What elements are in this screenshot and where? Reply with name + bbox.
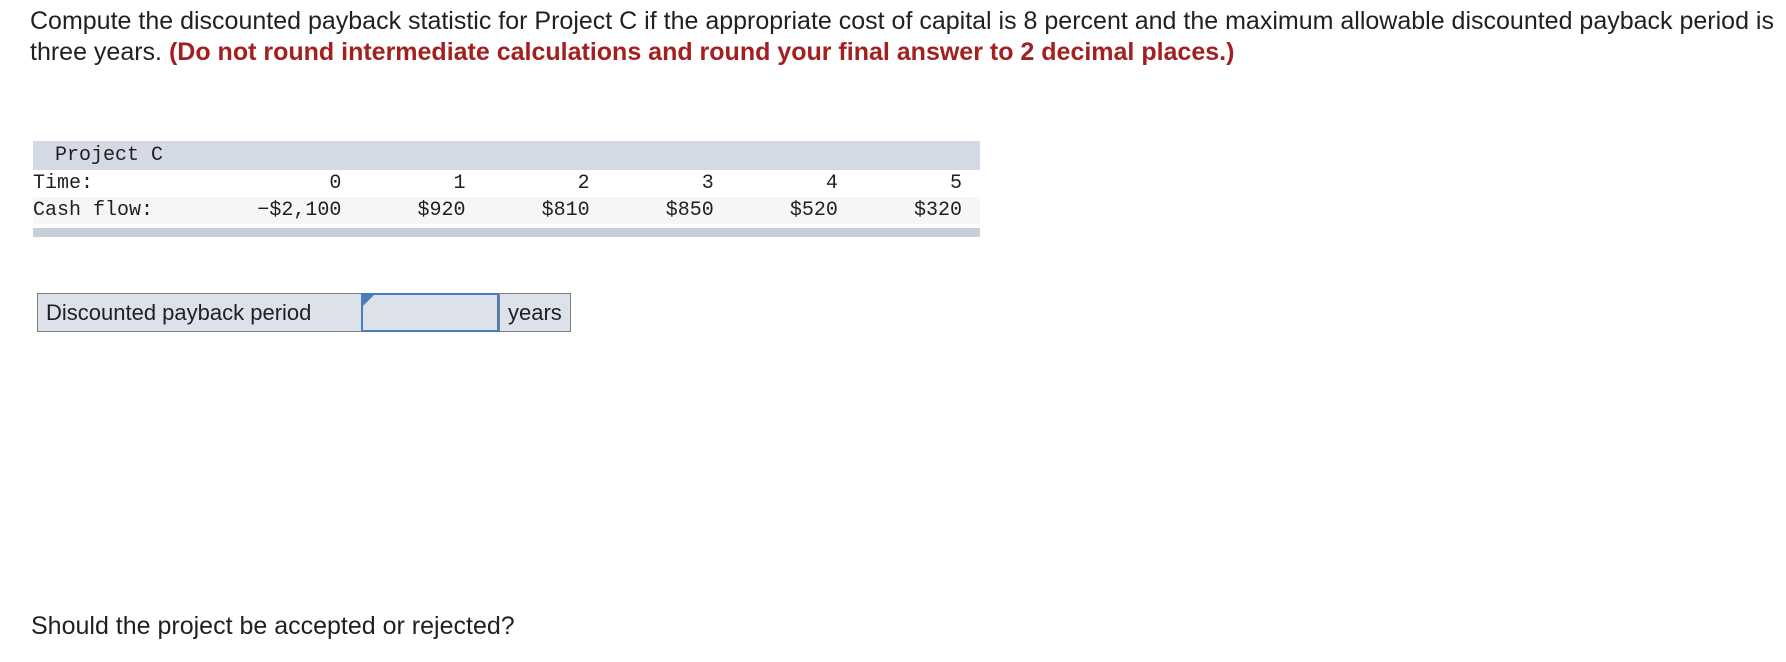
- table-row-time: Time: 0 1 2 3 4 5: [33, 170, 980, 197]
- row-label-time: Time:: [33, 170, 228, 197]
- time-cell-4: 4: [732, 170, 856, 197]
- time-cell-0: 0: [228, 170, 360, 197]
- time-cell-1: 1: [359, 170, 483, 197]
- row-label-cash-flow: Cash flow:: [33, 197, 228, 224]
- time-cell-2: 2: [484, 170, 608, 197]
- discounted-payback-period-input[interactable]: [363, 295, 497, 330]
- followup-question: Should the project be accepted or reject…: [31, 611, 515, 642]
- cash-flow-cell-4: $520: [732, 197, 856, 224]
- cash-flow-cell-3: $850: [608, 197, 732, 224]
- cash-flow-cell-1: $920: [359, 197, 483, 224]
- table-header-row: Project C: [33, 141, 980, 170]
- answer-entry-label: Discounted payback period: [38, 294, 361, 331]
- question-prompt-emphasis: (Do not round intermediate calculations …: [169, 38, 1234, 66]
- cash-flow-cell-5: $320: [856, 197, 980, 224]
- time-cell-5: 5: [856, 170, 980, 197]
- table-bottom-bar: [33, 228, 980, 237]
- cash-flow-cell-2: $810: [484, 197, 608, 224]
- cash-flow-table: Project C Time: 0 1 2 3 4 5 Cash flow: −…: [33, 141, 980, 224]
- question-prompt: Compute the discounted payback statistic…: [30, 6, 1786, 68]
- answer-entry-row: Discounted payback period years: [37, 293, 571, 332]
- table-row-cash-flow: Cash flow: −$2,100 $920 $810 $850 $520 $…: [33, 197, 980, 224]
- table-title: Project C: [33, 141, 980, 170]
- cash-flow-cell-0: −$2,100: [228, 197, 360, 224]
- answer-unit-label: years: [499, 294, 570, 331]
- time-cell-3: 3: [608, 170, 732, 197]
- answer-input-cell[interactable]: [361, 293, 499, 332]
